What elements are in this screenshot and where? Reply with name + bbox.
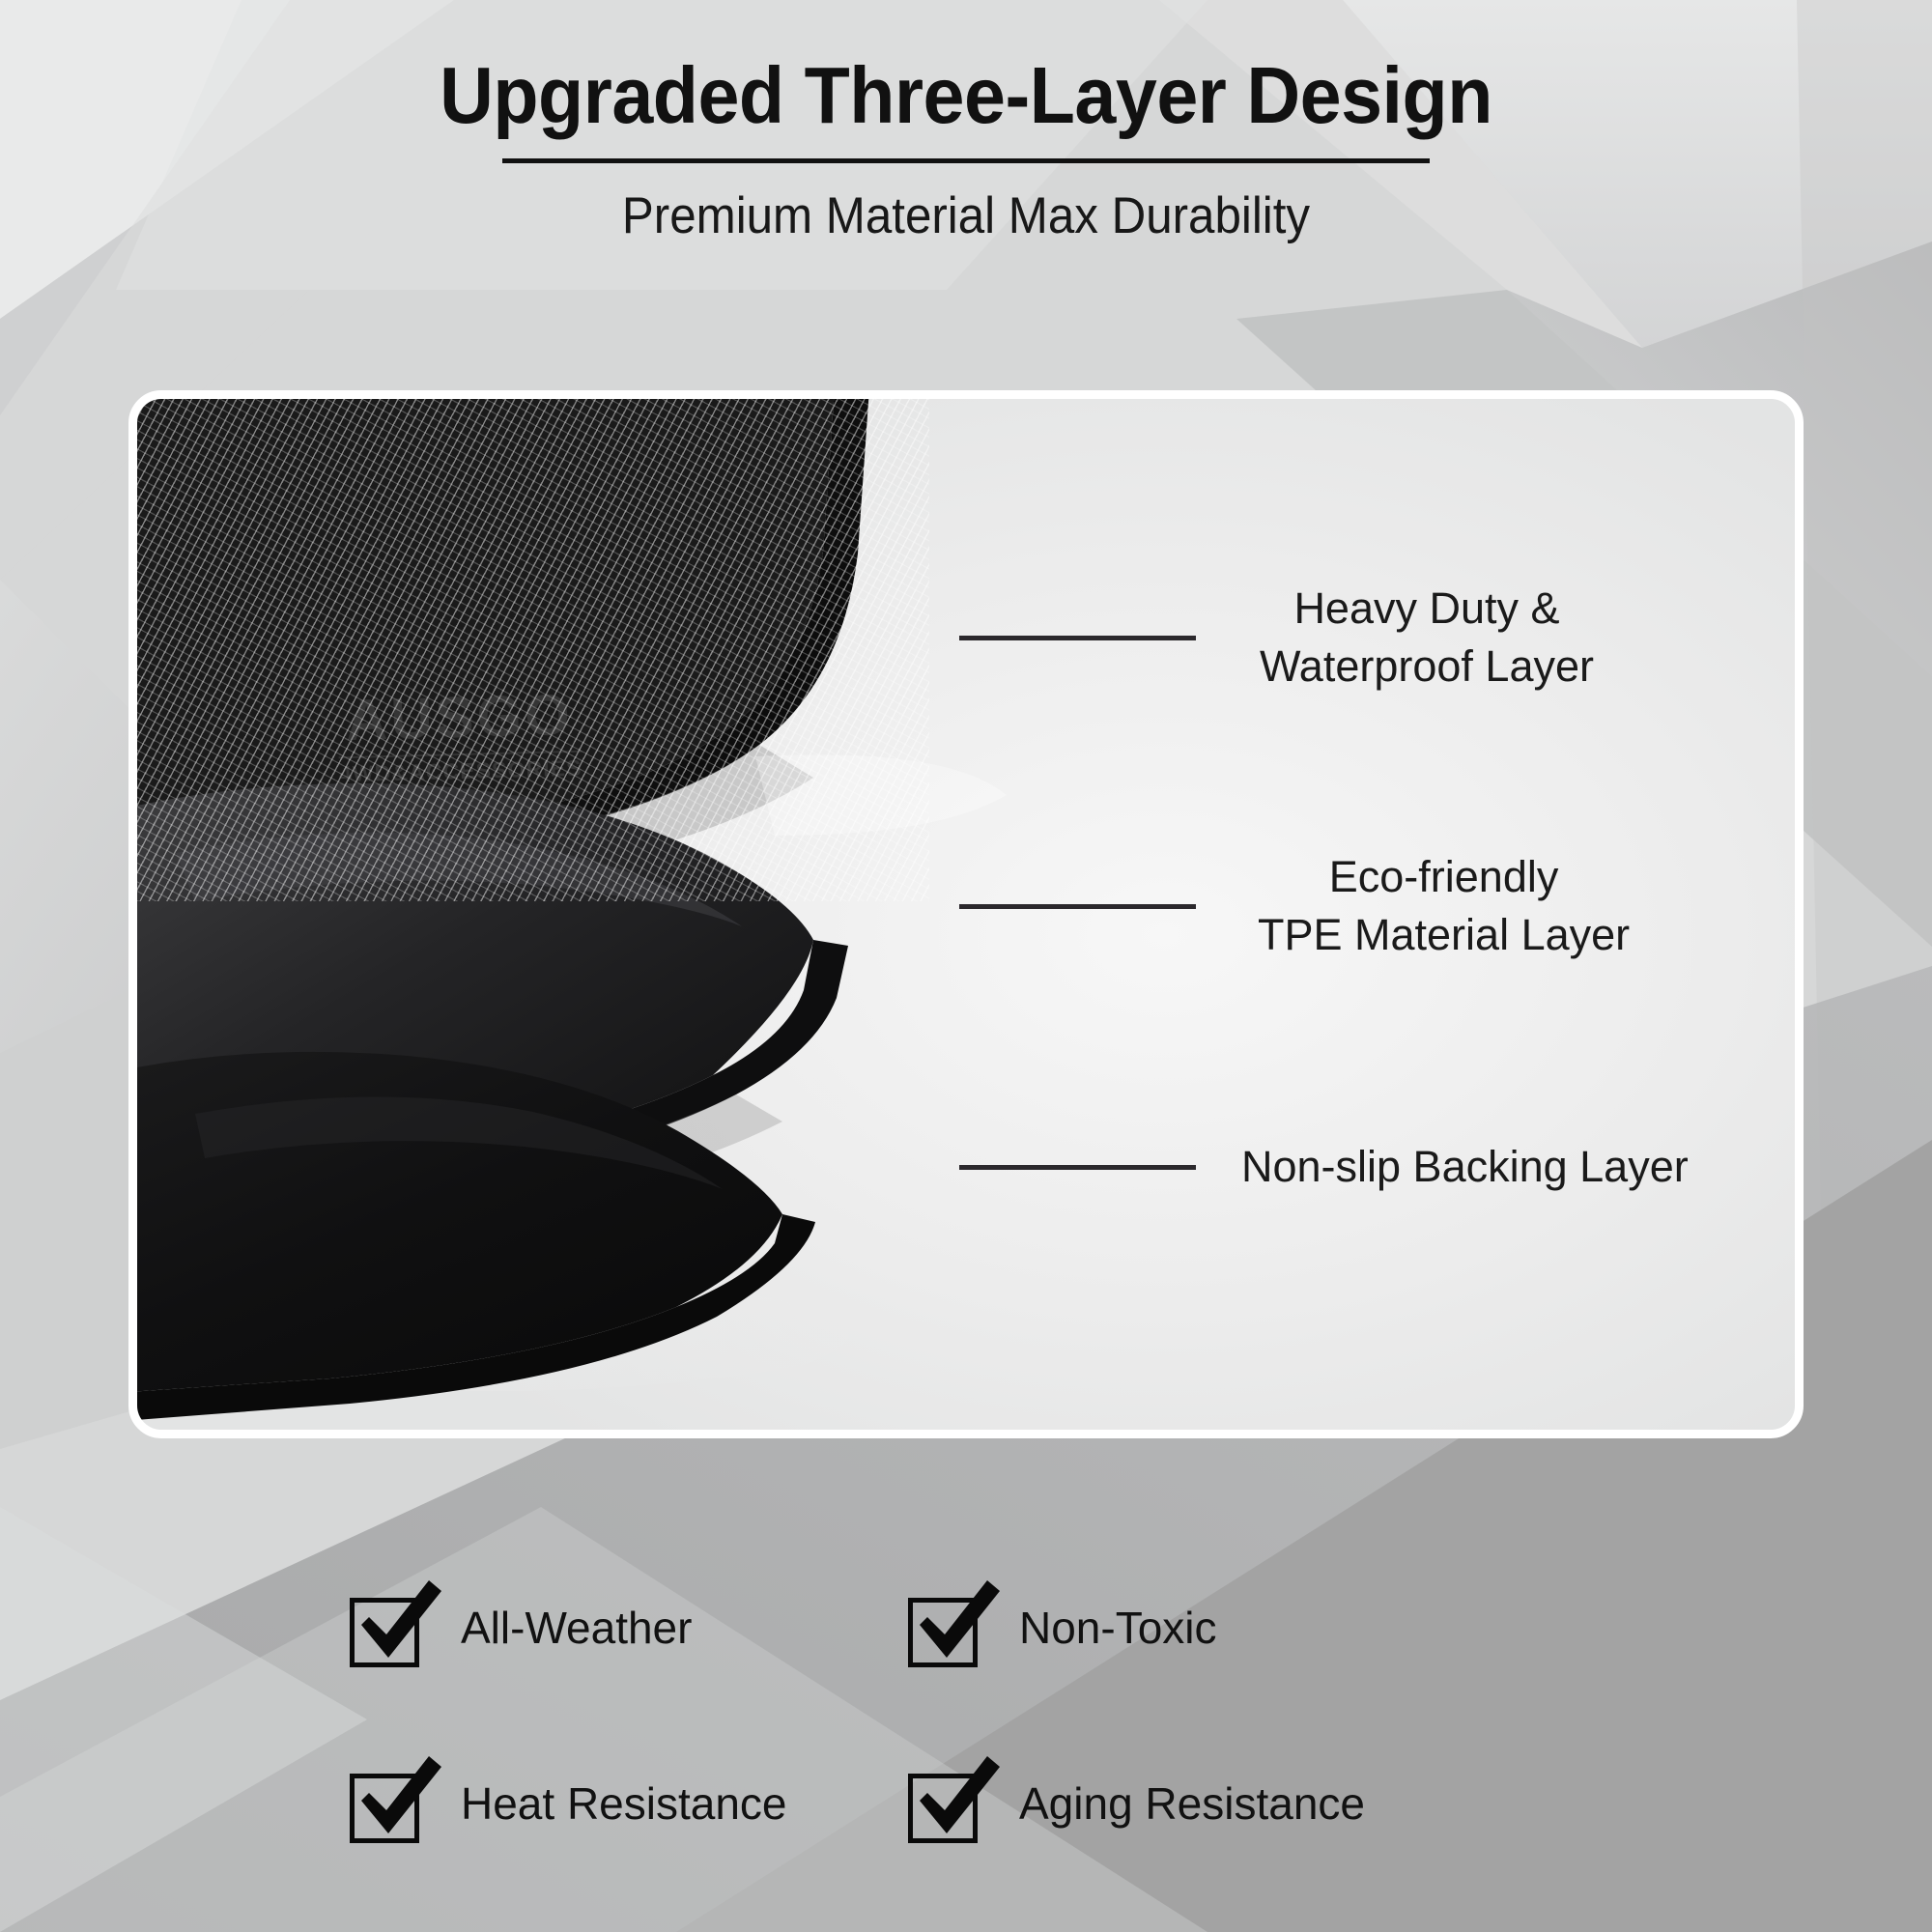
infographic-poster: Upgraded Three-Layer Design Premium Mate… xyxy=(0,0,1932,1932)
feature-row: All-Weather Non-Toxic xyxy=(0,1540,1932,1716)
callout-label: Heavy Duty & Waterproof Layer xyxy=(1260,580,1594,696)
checkbox-checked-icon xyxy=(350,1766,425,1841)
callout-eco-friendly-tpe: Eco-friendly TPE Material Layer xyxy=(959,848,1630,965)
callout-leader-line xyxy=(959,636,1196,640)
callout-label: Eco-friendly TPE Material Layer xyxy=(1258,848,1630,965)
page-title: Upgraded Three-Layer Design xyxy=(68,54,1864,137)
callout-leader-line xyxy=(959,1165,1196,1170)
callout-label-line1: Eco-friendly xyxy=(1258,848,1630,906)
feature-item-non-toxic[interactable]: Non-Toxic xyxy=(763,1540,1526,1716)
feature-item-aging-resistance[interactable]: Aging Resistance xyxy=(763,1716,1526,1891)
feature-row: Heat Resistance Aging Resistance xyxy=(0,1716,1932,1891)
page-subtitle: Premium Material Max Durability xyxy=(68,186,1864,245)
feature-label: Non-Toxic xyxy=(1019,1605,1217,1650)
callout-label-line1: Non-slip Backing Layer xyxy=(1241,1138,1689,1196)
feature-item-heat-resistance[interactable]: Heat Resistance xyxy=(0,1716,763,1891)
checkbox-checked-icon xyxy=(350,1590,425,1665)
feature-label: All-Weather xyxy=(461,1605,692,1650)
callout-label-line2: Waterproof Layer xyxy=(1260,638,1594,696)
header: Upgraded Three-Layer Design Premium Mate… xyxy=(0,54,1932,245)
callout-label-line2: TPE Material Layer xyxy=(1258,906,1630,964)
callout-label-line1: Heavy Duty & xyxy=(1260,580,1594,638)
callout-non-slip-backing: Non-slip Backing Layer xyxy=(959,1138,1689,1196)
callout-leader-line xyxy=(959,904,1196,909)
feature-label: Heat Resistance xyxy=(461,1781,787,1826)
title-divider xyxy=(502,158,1430,163)
callout-heavy-duty-waterproof: Heavy Duty & Waterproof Layer xyxy=(959,580,1594,696)
feature-label: Aging Resistance xyxy=(1019,1781,1365,1826)
feature-checklist: All-Weather Non-Toxic xyxy=(0,1540,1932,1891)
feature-item-all-weather[interactable]: All-Weather xyxy=(0,1540,763,1716)
checkbox-checked-icon xyxy=(908,1766,983,1841)
callout-label: Non-slip Backing Layer xyxy=(1241,1138,1689,1196)
checkbox-checked-icon xyxy=(908,1590,983,1665)
